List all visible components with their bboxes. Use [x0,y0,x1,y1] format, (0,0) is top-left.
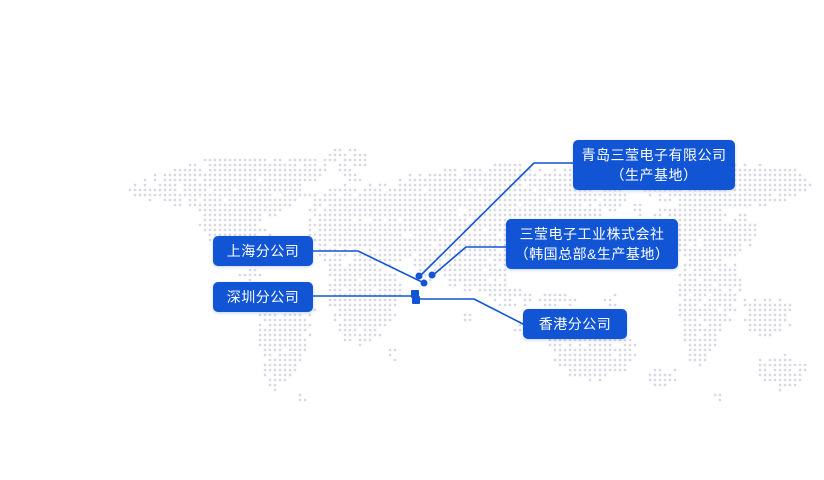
label-qingdao-line-2: （生产基地） [611,165,698,185]
label-shanghai-line-1: 上海分公司 [227,241,300,261]
connector-shanghai [313,251,424,283]
connector-hongkong [416,299,523,324]
label-shenzhen-line-1: 深圳分公司 [227,287,300,307]
connector-lines-layer [0,0,824,480]
label-hongkong[interactable]: 香港分公司 [523,309,627,339]
world-map-infographic: 青岛三莹电子有限公司 （生产基地） 三莹电子工业株式会社 （韩国总部&生产基地）… [0,0,824,480]
marker-hongkong[interactable] [412,296,420,304]
label-shanghai[interactable]: 上海分公司 [213,236,313,266]
marker-korea[interactable] [429,272,436,279]
connector-korea [432,247,506,276]
label-qingdao-line-1: 青岛三莹电子有限公司 [582,145,727,165]
marker-shanghai[interactable] [421,280,428,287]
label-korea-hq-line-2: （韩国总部&生产基地） [515,244,670,264]
label-korea-hq-line-1: 三莹电子工业株式会社 [520,224,665,244]
label-hongkong-line-1: 香港分公司 [539,314,612,334]
label-qingdao[interactable]: 青岛三莹电子有限公司 （生产基地） [573,140,735,190]
label-korea-hq[interactable]: 三莹电子工业株式会社 （韩国总部&生产基地） [506,219,678,269]
marker-qingdao[interactable] [416,273,423,280]
label-shenzhen[interactable]: 深圳分公司 [213,282,313,312]
